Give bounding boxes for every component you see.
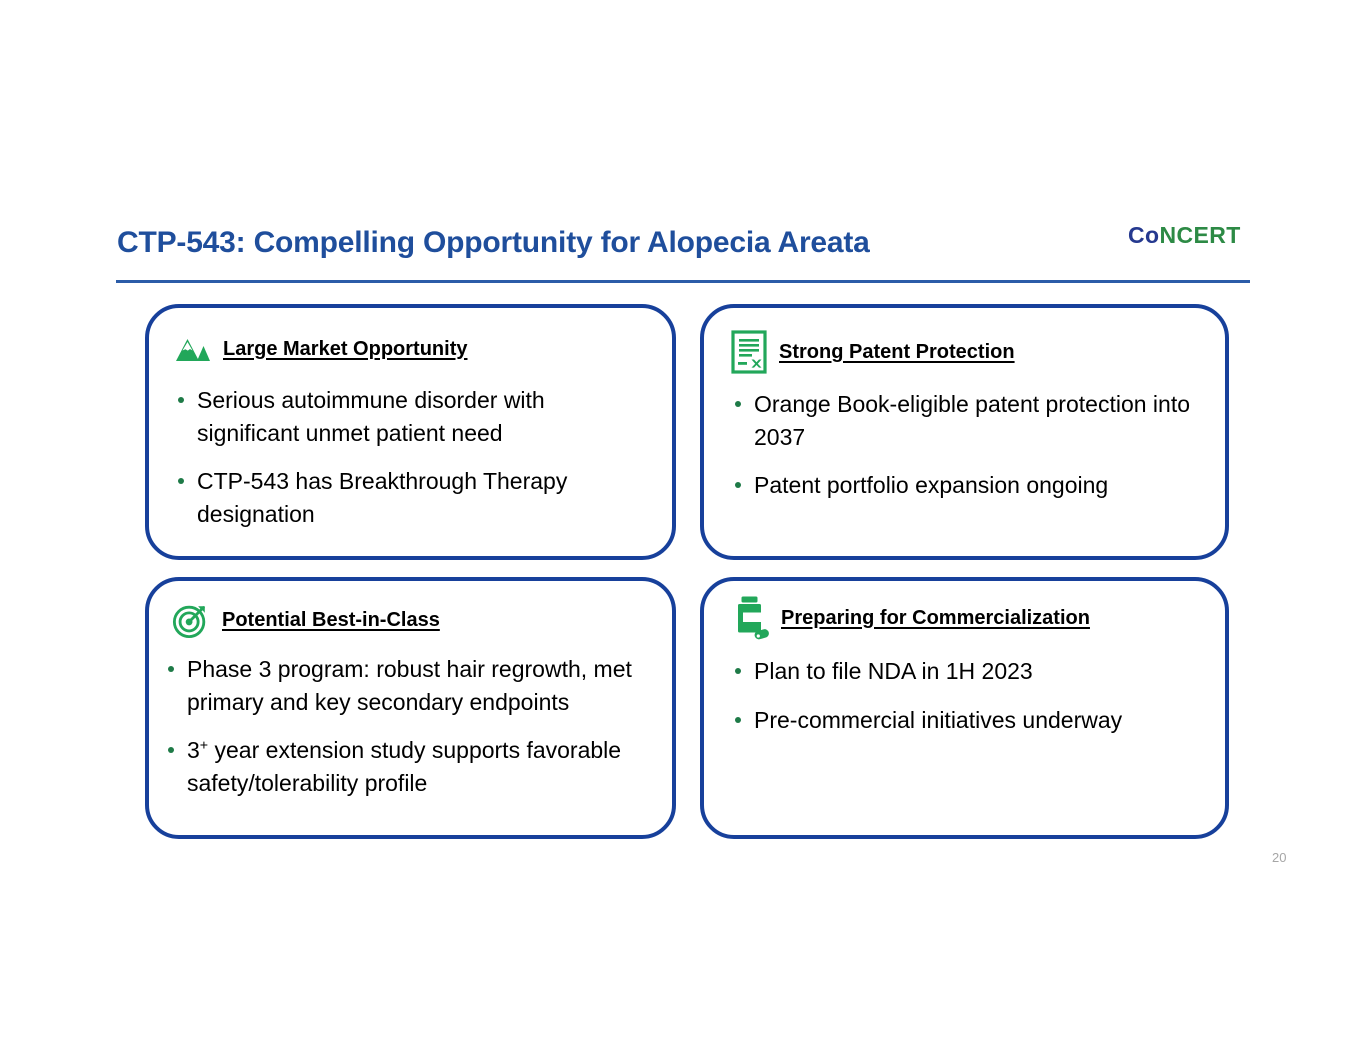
- card-title: Potential Best-in-Class: [222, 609, 440, 632]
- list-item: CTP-543 has Breakthrough Therapy designa…: [171, 465, 651, 530]
- logo-text-co: Co: [1128, 222, 1159, 248]
- list-item: Serious autoimmune disorder with signifi…: [171, 384, 651, 449]
- card-preparing-for-commercialization: Preparing for Commercialization Plan to …: [700, 577, 1229, 839]
- card-potential-best-in-class: Potential Best-in-Class Phase 3 program:…: [145, 577, 676, 839]
- mountains-icon: [173, 328, 211, 370]
- logo-text-ncert: NCERT: [1159, 222, 1240, 248]
- title-divider: [116, 280, 1250, 283]
- card-header: Strong Patent Protection: [704, 308, 1225, 374]
- page-number: 20: [1272, 850, 1286, 865]
- card-header: Large Market Opportunity: [149, 308, 672, 370]
- list-item: Patent portfolio expansion ongoing: [728, 469, 1208, 502]
- list-item: 3+ year extension study supports favorab…: [161, 734, 661, 799]
- card-title: Large Market Opportunity: [223, 338, 467, 361]
- slide-canvas: CTP-543: Compelling Opportunity for Alop…: [0, 0, 1365, 1055]
- list-item: Orange Book-eligible patent protection i…: [728, 388, 1208, 453]
- list-item: Pre-commercial initiatives underway: [728, 704, 1218, 737]
- card-title: Preparing for Commercialization: [781, 607, 1090, 630]
- list-item: Phase 3 program: robust hair regrowth, m…: [161, 653, 661, 718]
- document-certificate-icon: [731, 330, 767, 374]
- list-item: Plan to file NDA in 1H 2023: [728, 655, 1218, 688]
- card-large-market-opportunity: Large Market Opportunity Serious autoimm…: [145, 304, 676, 560]
- target-arrow-icon: [172, 599, 210, 641]
- bullet-list: Plan to file NDA in 1H 2023 Pre-commerci…: [728, 655, 1218, 736]
- card-title: Strong Patent Protection: [779, 341, 1015, 364]
- bullet-list: Phase 3 program: robust hair regrowth, m…: [161, 653, 661, 800]
- card-header: Preparing for Commercialization: [704, 581, 1225, 641]
- card-header: Potential Best-in-Class: [149, 581, 672, 641]
- bullet-list: Orange Book-eligible patent protection i…: [728, 388, 1208, 502]
- concert-logo: CoNCERT: [1128, 222, 1241, 249]
- page-title: CTP-543: Compelling Opportunity for Alop…: [117, 226, 870, 260]
- pill-bottle-icon: [735, 595, 769, 641]
- bullet-list: Serious autoimmune disorder with signifi…: [171, 384, 651, 531]
- card-strong-patent-protection: Strong Patent Protection Orange Book-eli…: [700, 304, 1229, 560]
